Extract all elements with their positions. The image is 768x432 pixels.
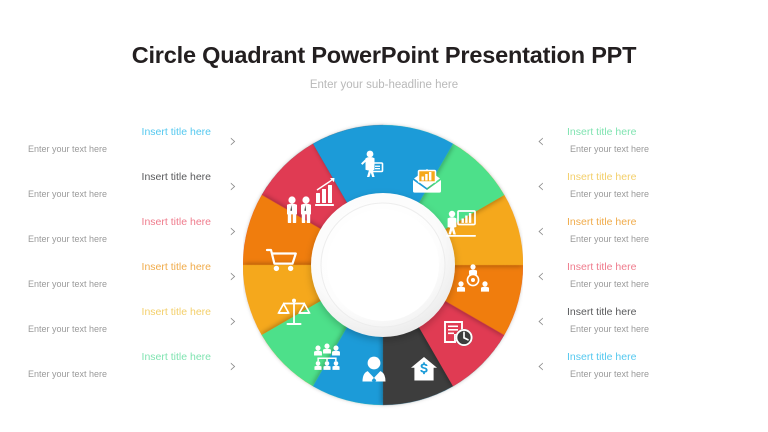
left-item-subtitle-5: Enter your text here — [8, 323, 243, 336]
list-item[interactable]: Insert title here Enter your text here › — [8, 350, 243, 395]
right-item-title-4: Insert title here — [525, 260, 760, 274]
chevron-right-icon: › — [229, 357, 237, 376]
chevron-right-icon: › — [229, 267, 237, 286]
list-item[interactable]: Insert title here Enter your text here ‹ — [525, 350, 760, 395]
page-title: Circle Quadrant PowerPoint Presentation … — [0, 40, 768, 70]
left-item-title-1: Insert title here — [8, 125, 243, 139]
chevron-left-icon: ‹ — [537, 222, 545, 241]
list-item[interactable]: Insert title here Enter your text here ‹ — [525, 125, 760, 170]
right-item-title-3: Insert title here — [525, 215, 760, 229]
list-item[interactable]: Insert title here Enter your text here › — [8, 215, 243, 260]
list-item[interactable]: Insert title here Enter your text here › — [8, 170, 243, 215]
list-item[interactable]: Insert title here Enter your text here ‹ — [525, 305, 760, 350]
right-item-subtitle-3: Enter your text here — [525, 233, 760, 246]
wheel-center-hub[interactable] — [311, 193, 455, 337]
left-text-column: Insert title here Enter your text here ›… — [8, 125, 243, 395]
left-item-title-2: Insert title here — [8, 170, 243, 184]
left-item-subtitle-2: Enter your text here — [8, 188, 243, 201]
left-item-subtitle-1: Enter your text here — [8, 143, 243, 156]
left-item-subtitle-4: Enter your text here — [8, 278, 243, 291]
left-item-title-4: Insert title here — [8, 260, 243, 274]
left-item-subtitle-6: Enter your text here — [8, 368, 243, 381]
list-item[interactable]: Insert title here Enter your text here › — [8, 305, 243, 350]
right-item-subtitle-2: Enter your text here — [525, 188, 760, 201]
right-item-title-6: Insert title here — [525, 350, 760, 364]
right-item-subtitle-1: Enter your text here — [525, 143, 760, 156]
list-item[interactable]: Insert title here Enter your text here › — [8, 125, 243, 170]
list-item[interactable]: Insert title here Enter your text here ‹ — [525, 260, 760, 305]
chevron-right-icon: › — [229, 177, 237, 196]
slide-header: Circle Quadrant PowerPoint Presentation … — [0, 40, 768, 93]
right-item-title-5: Insert title here — [525, 305, 760, 319]
chevron-right-icon: › — [229, 222, 237, 241]
right-item-subtitle-4: Enter your text here — [525, 278, 760, 291]
chevron-right-icon: › — [229, 312, 237, 331]
list-item[interactable]: Insert title here Enter your text here ‹ — [525, 215, 760, 260]
left-item-subtitle-3: Enter your text here — [8, 233, 243, 246]
chevron-left-icon: ‹ — [537, 357, 545, 376]
list-item[interactable]: Insert title here Enter your text here › — [8, 260, 243, 305]
right-text-column: Insert title here Enter your text here ‹… — [525, 125, 760, 395]
left-item-title-3: Insert title here — [8, 215, 243, 229]
right-item-title-2: Insert title here — [525, 170, 760, 184]
right-item-title-1: Insert title here — [525, 125, 760, 139]
left-item-title-6: Insert title here — [8, 350, 243, 364]
chevron-left-icon: ‹ — [537, 312, 545, 331]
page-subtitle: Enter your sub-headline here — [0, 77, 768, 93]
chevron-right-icon: › — [229, 132, 237, 151]
chevron-left-icon: ‹ — [537, 177, 545, 196]
list-item[interactable]: Insert title here Enter your text here ‹ — [525, 170, 760, 215]
chevron-left-icon: ‹ — [537, 132, 545, 151]
right-item-subtitle-5: Enter your text here — [525, 323, 760, 336]
circle-quadrant-wheel — [243, 118, 523, 413]
slide-canvas: Circle Quadrant PowerPoint Presentation … — [0, 0, 768, 432]
chevron-left-icon: ‹ — [537, 267, 545, 286]
right-item-subtitle-6: Enter your text here — [525, 368, 760, 381]
left-item-title-5: Insert title here — [8, 305, 243, 319]
